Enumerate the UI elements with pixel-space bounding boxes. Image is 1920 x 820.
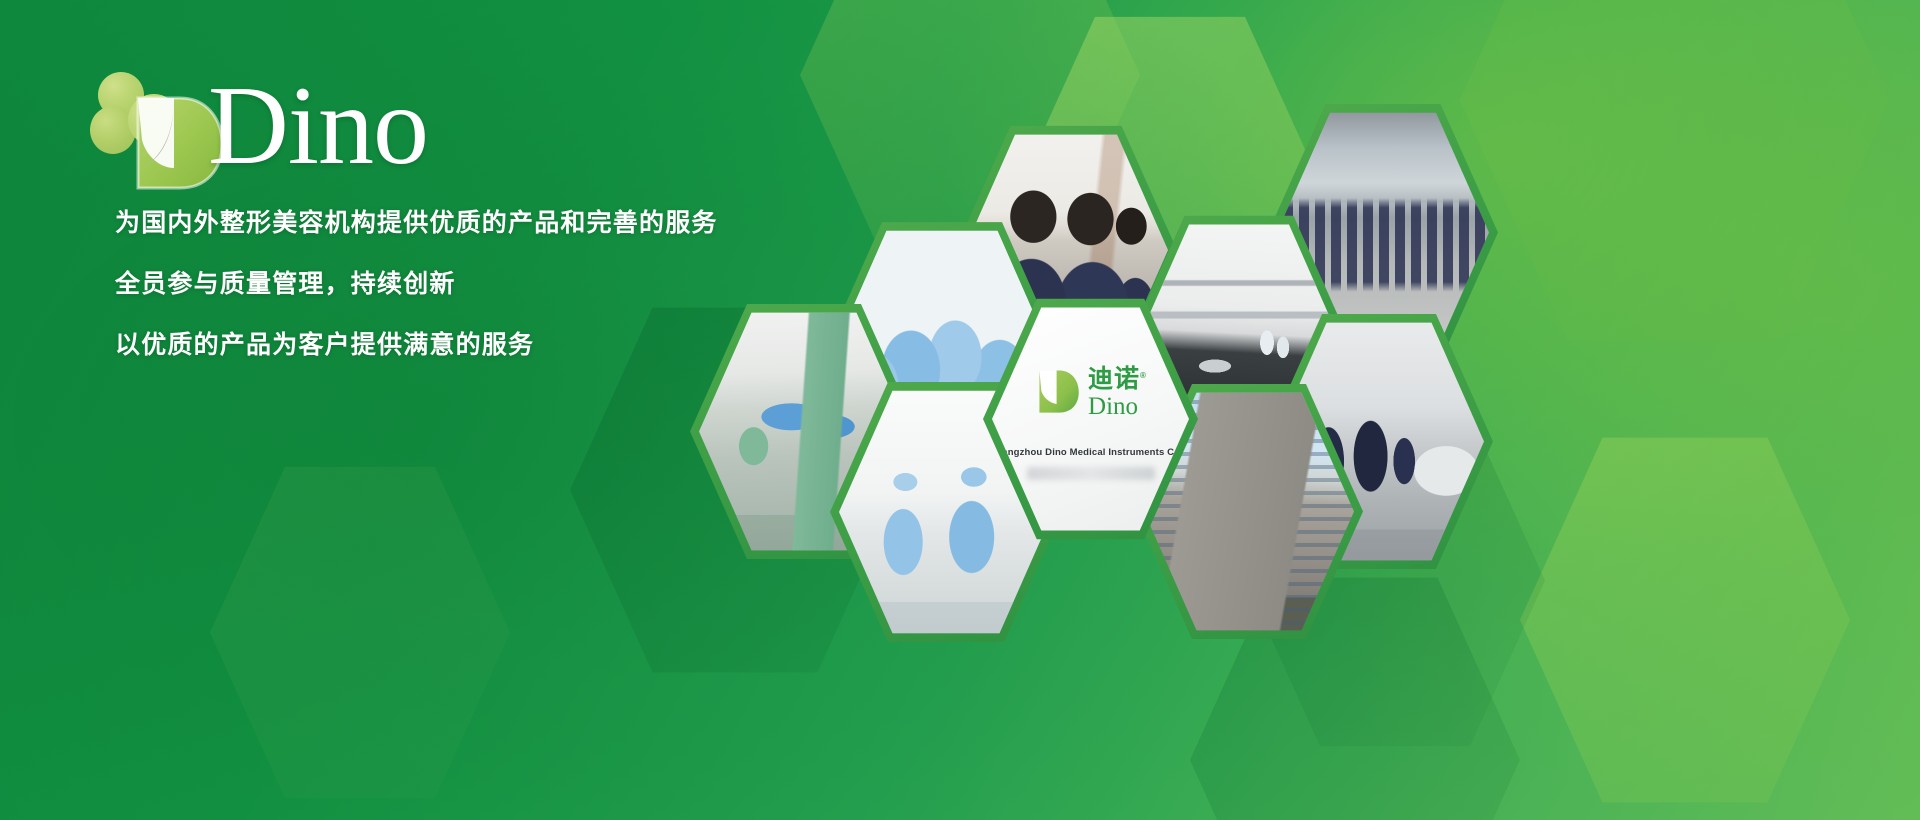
center-brand-name-en: Dino (1088, 394, 1138, 420)
dino-leaf-mark-icon (1034, 368, 1081, 415)
center-logo-hexagon[interactable]: 迪诺® Dino Hangzhou Dino Medical Instrumen… (983, 295, 1198, 543)
blurred-text-placeholder (1027, 467, 1155, 480)
center-brand-text: 迪诺® Dino (1088, 363, 1147, 419)
center-brand-name-cn: 迪诺® (1088, 363, 1147, 392)
brand-name-cn-text: 迪诺 (1088, 366, 1140, 394)
hexagon-photo-grid: 迪诺® Dino Hangzhou Dino Medical Instrumen… (0, 0, 1920, 820)
center-brand-lockup: 迪诺® Dino (992, 363, 1189, 419)
center-company-name: Hangzhou Dino Medical Instruments Co.. (992, 447, 1189, 458)
registered-mark-icon: ® (1140, 371, 1147, 380)
company-banner: Dino 为国内外整形美容机构提供优质的产品和完善的服务 全员参与质量管理，持续… (0, 0, 1920, 820)
